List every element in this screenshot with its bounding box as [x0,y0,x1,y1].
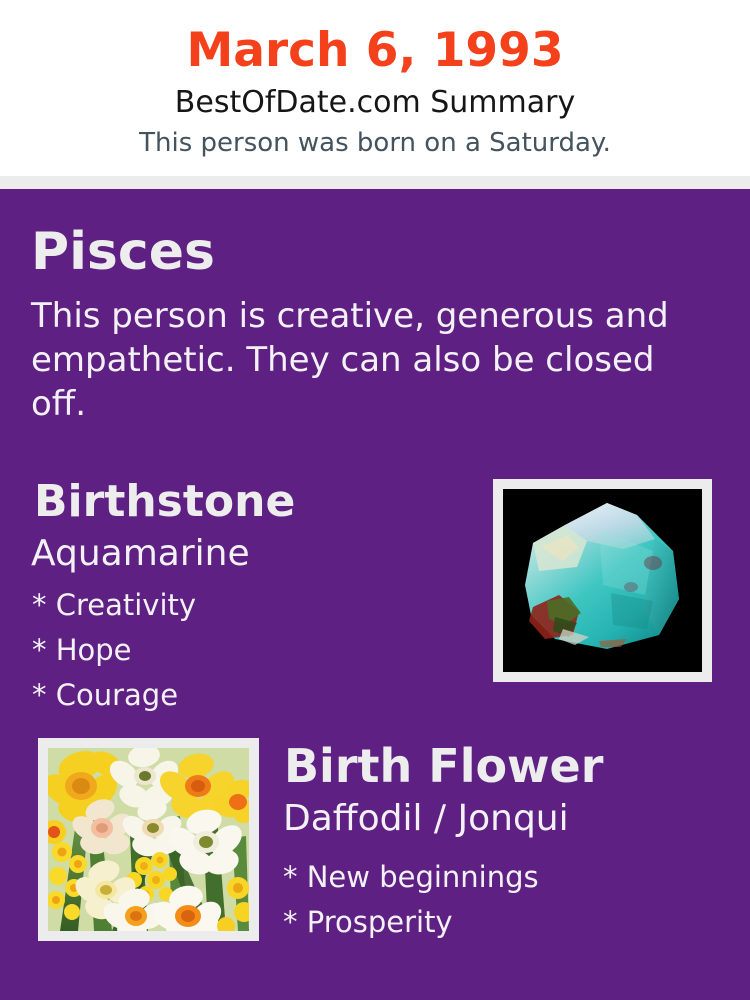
site-name: BestOfDate.com Summary [0,84,750,122]
daffodil-flowers-photo [48,748,249,931]
birth-flower-heading: Birth Flower [284,738,603,794]
zodiac-sign-title: Pisces [31,222,215,282]
header: March 6, 1993 BestOfDate.com Summary Thi… [0,0,750,176]
summary-card: March 6, 1993 BestOfDate.com Summary Thi… [0,0,750,1000]
aquamarine-crystal-icon [503,489,702,672]
birthstone-name: Aquamarine [31,532,250,576]
header-divider [0,176,750,189]
list-item: * Courage [32,673,462,718]
birthstone-heading: Birthstone [34,476,295,528]
list-item: * New beginnings [283,855,723,900]
birth-flower-image-frame [38,738,259,941]
page-title-date: March 6, 1993 [0,22,750,80]
daffodil-flowers-icon [48,748,249,931]
birth-flower-trait-list: * New beginnings * Prosperity [283,855,723,945]
aquamarine-crystal-photo [503,489,702,672]
birthstone-image-frame [493,479,712,682]
birthstone-trait-list: * Creativity * Hope * Courage [32,583,462,718]
birth-day-line: This person was born on a Saturday. [0,126,750,160]
zodiac-description: This person is creative, generous and em… [31,294,703,426]
list-item: * Prosperity [283,900,723,945]
list-item: * Hope [32,628,462,673]
list-item: * Creativity [32,583,462,628]
birth-flower-name: Daffodil / Jonqui [283,797,569,841]
